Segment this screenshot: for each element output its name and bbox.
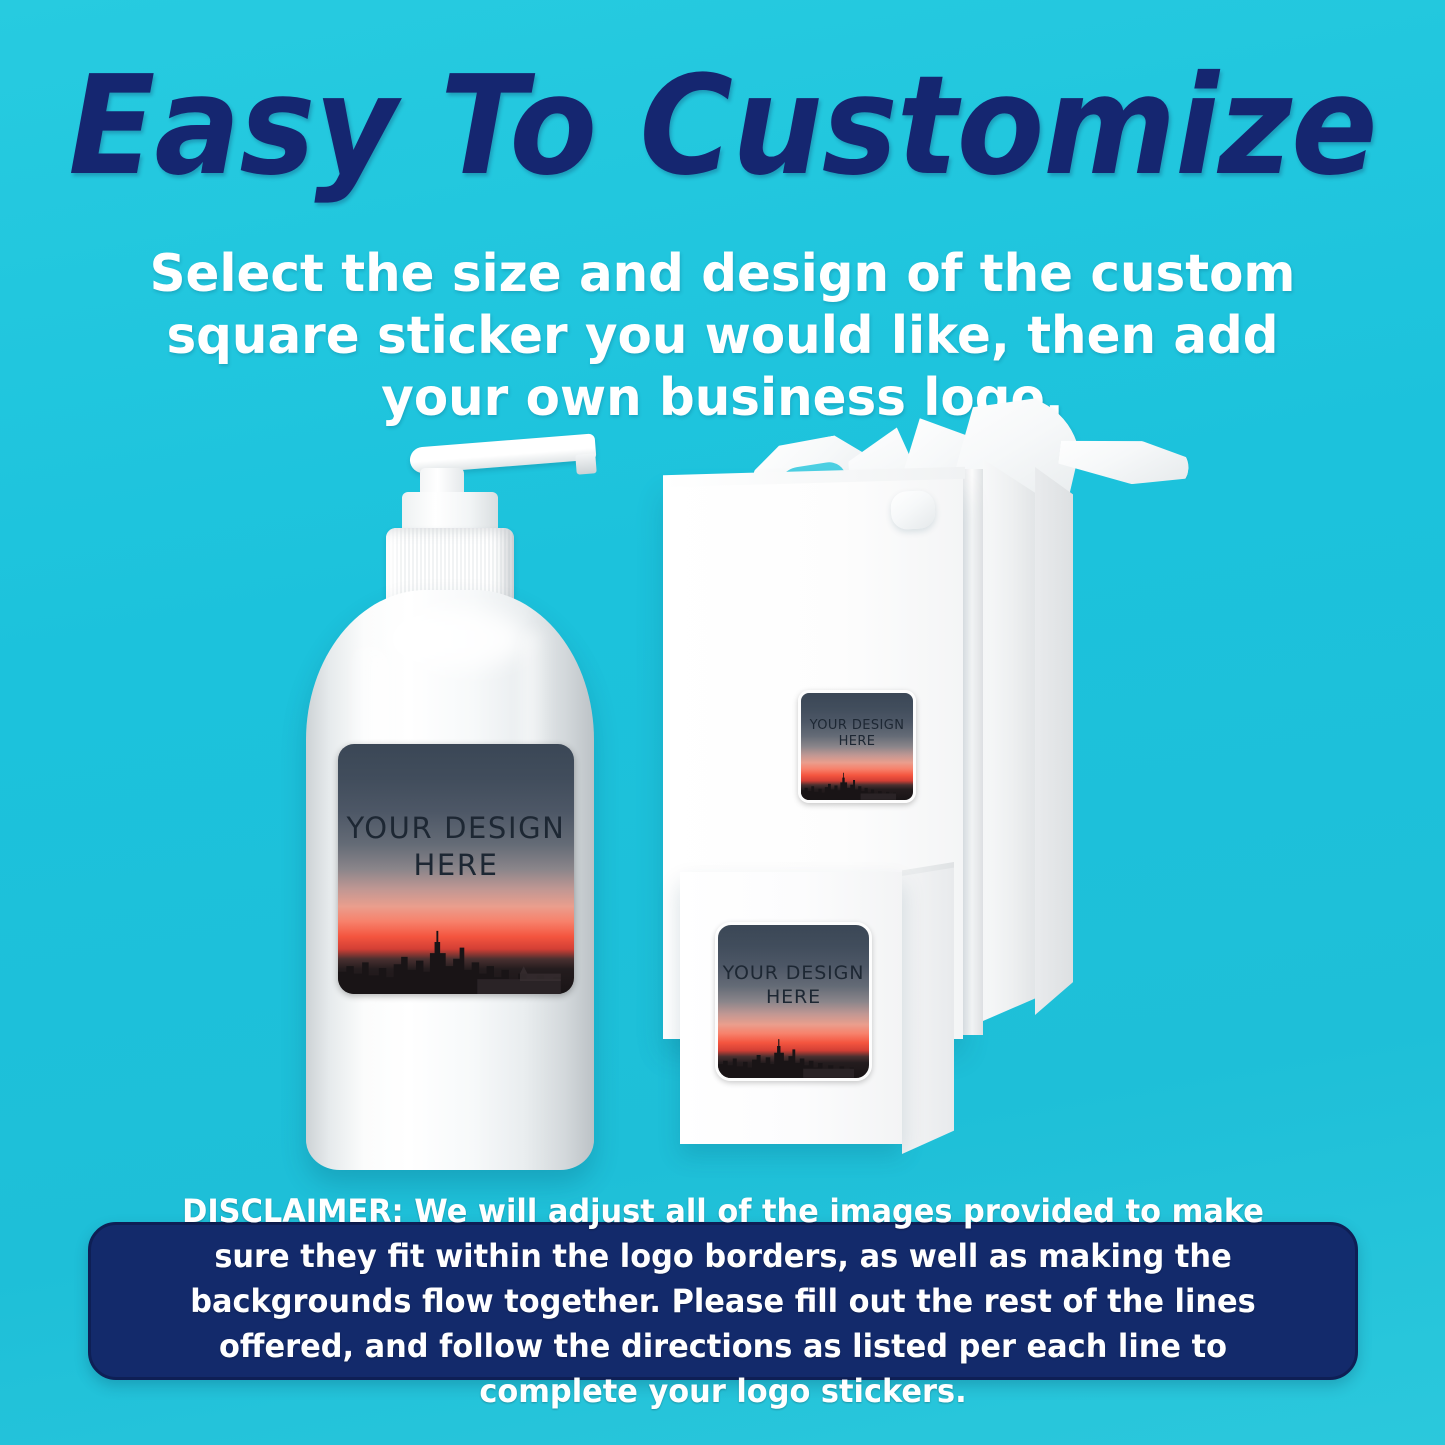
ribbon-knot xyxy=(890,490,936,530)
bottle-shoulder-highlight xyxy=(386,608,526,670)
sticker-gift-box: YOUR DESIGN HERE xyxy=(798,690,916,803)
city-skyline-icon xyxy=(801,772,896,800)
sticker-design-text: YOUR DESIGN HERE xyxy=(338,810,574,883)
small-box-side-panel xyxy=(902,862,954,1154)
disclaimer-text: DISCLAIMER: We will adjust all of the im… xyxy=(155,1189,1291,1414)
sticker-design-text: YOUR DESIGN HERE xyxy=(801,718,913,751)
city-skyline-icon xyxy=(718,1038,854,1078)
sticker-small-box: YOUR DESIGN HERE xyxy=(715,922,872,1081)
sticker-design-text: YOUR DESIGN HERE xyxy=(718,962,869,1010)
disclaimer-box: DISCLAIMER: We will adjust all of the im… xyxy=(88,1222,1358,1380)
ribbon-tail xyxy=(1057,431,1191,491)
disclaimer-label: DISCLAIMER: xyxy=(182,1192,404,1230)
bottle-pump-nozzle-tip xyxy=(575,453,597,475)
city-skyline-icon xyxy=(338,929,561,994)
gift-box-back-panel xyxy=(1035,467,1073,1015)
page-title: Easy To Customize xyxy=(51,58,1395,195)
gift-box-side-panel xyxy=(983,459,1035,1021)
promo-banner: Easy To Customize Select the size and de… xyxy=(0,0,1445,1445)
sticker-bottle-label: YOUR DESIGN HERE xyxy=(338,744,574,994)
